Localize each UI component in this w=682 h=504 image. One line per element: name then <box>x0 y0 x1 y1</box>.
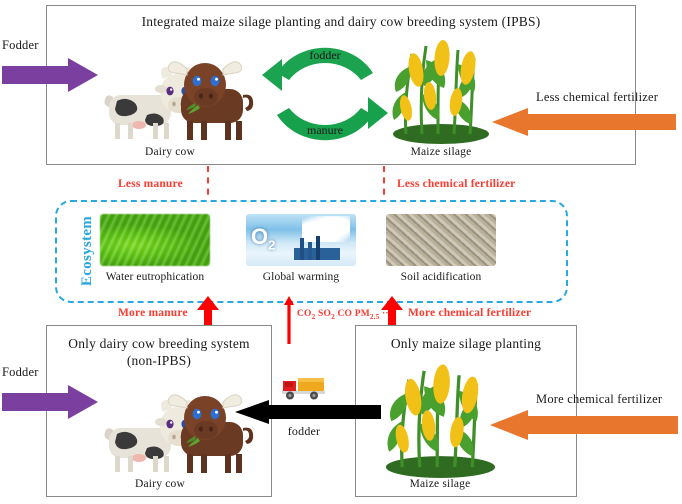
bottom-dairy-cow-caption: Dairy cow <box>100 478 220 490</box>
dairy-cow-illustration-bottom <box>95 378 260 478</box>
diagram-canvas: Integrated maize silage planting and dai… <box>0 0 682 504</box>
fodder-arrow-bottom <box>2 385 98 419</box>
fodder-label-top: Fodder <box>2 38 72 53</box>
maize-silage-illustration-top <box>386 36 496 144</box>
soil-acidification-caption: Soil acidification <box>375 271 507 283</box>
bottom-maize-silage-caption: Maize silage <box>380 478 500 490</box>
bottom-left-panel-title-line1: Only dairy cow breeding system <box>46 336 272 353</box>
top-dairy-cow-caption: Dairy cow <box>110 146 230 158</box>
less-chemical-fertilizer-down-label: Less chemical fertilizer <box>397 178 515 190</box>
global-warming-caption: Global warming <box>235 271 367 283</box>
fodder-transport-label: fodder <box>268 424 340 439</box>
fodder-transport-arrow <box>235 400 381 424</box>
emissions-label: CO2 SO2 CO PM2.5 ··· <box>297 309 392 321</box>
cycle-fodder-label: fodder <box>256 48 394 63</box>
more-manure-label: More manure <box>118 307 188 319</box>
less-chemical-fertilizer-label: Less chemical fertilizer <box>536 90 682 105</box>
top-panel-title: Integrated maize silage planting and dai… <box>46 14 636 31</box>
emissions-arrow <box>284 296 294 344</box>
bottom-left-panel-title-line2: (non-IPBS) <box>46 353 272 370</box>
ecosystem-item-warming: O2 Global warming <box>235 214 367 283</box>
truck-icon <box>281 372 327 402</box>
more-chemical-fertilizer-label: More chemical fertilizer <box>408 307 531 319</box>
algae-bloom-icon <box>100 214 210 266</box>
ecosystem-item-soil: Soil acidification <box>375 214 507 283</box>
cracked-soil-icon <box>386 214 496 266</box>
fodder-arrow-top <box>2 58 98 92</box>
fodder-label-bottom: Fodder <box>2 365 72 380</box>
maize-silage-illustration-bottom <box>378 360 503 478</box>
more-chemical-fertilizer-orange-label: More chemical fertilizer <box>536 392 682 407</box>
cycle-manure-label: manure <box>256 123 394 138</box>
o2-overlay-text: O2 <box>251 226 275 251</box>
top-maize-silage-caption: Maize silage <box>381 146 501 158</box>
smokestack-icon: O2 <box>246 214 356 266</box>
ecosystem-item-water: Water eutrophication <box>89 214 221 283</box>
ecosystem-band: Ecosystem Water eutrophication O2 Global… <box>55 200 568 303</box>
bottom-right-panel-title: Only maize silage planting <box>355 336 577 353</box>
water-eutrophication-caption: Water eutrophication <box>89 271 221 283</box>
dairy-cow-illustration-top <box>95 45 260 145</box>
less-manure-label: Less manure <box>118 178 183 190</box>
fodder-manure-cycle: fodder manure <box>256 33 394 155</box>
less-chemical-fertilizer-arrow <box>492 108 676 136</box>
more-chemical-fertilizer-orange-arrow <box>490 410 678 440</box>
